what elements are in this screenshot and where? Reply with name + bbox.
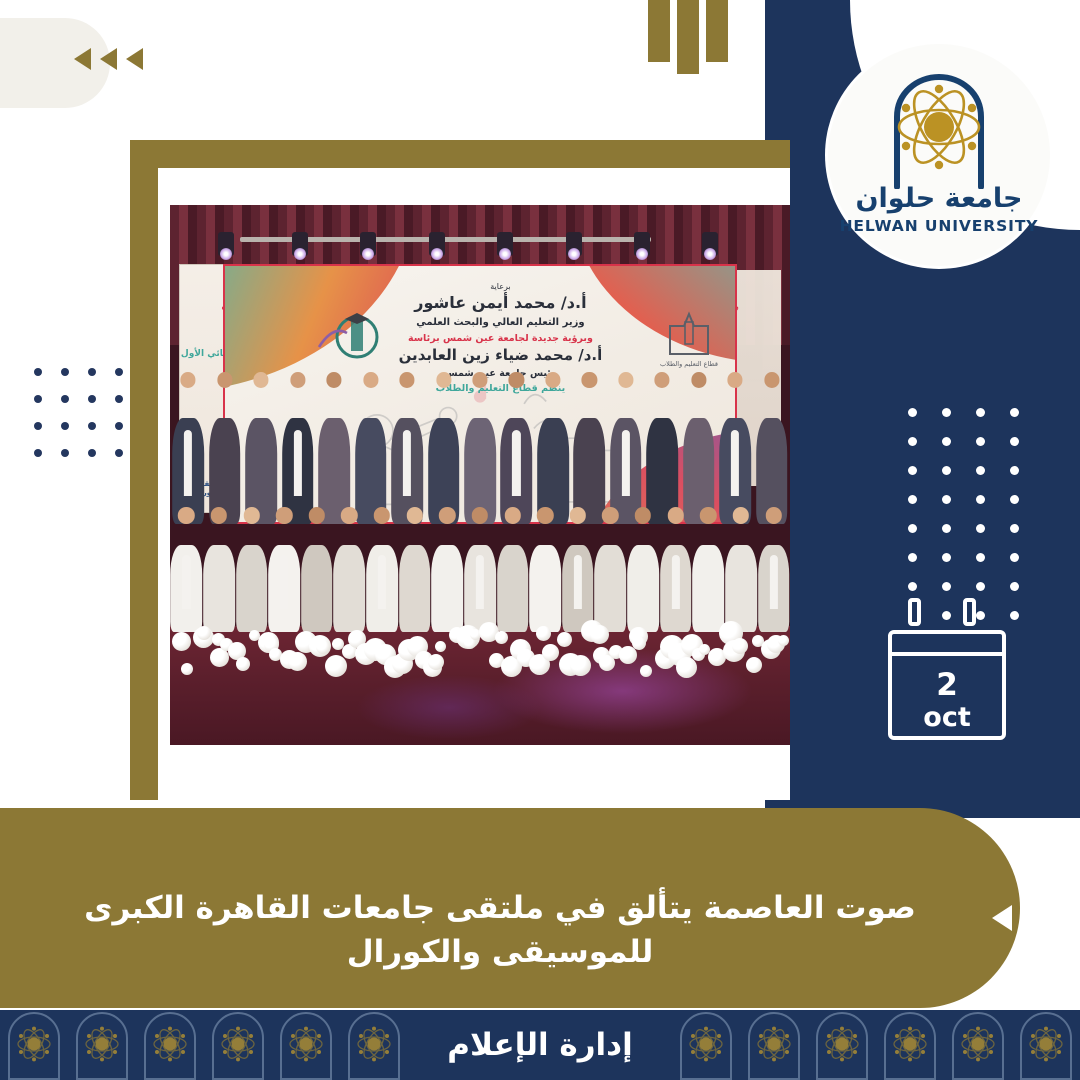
- attendee-shirt: [512, 430, 520, 497]
- footer-pattern-left: [0, 1010, 408, 1080]
- date-badge: 2 oct: [888, 612, 1006, 740]
- dot: [115, 449, 123, 457]
- attendee: [428, 372, 460, 523]
- stage-light-icon: [702, 232, 718, 256]
- attendee-head: [545, 372, 560, 387]
- dot: [61, 449, 69, 457]
- flower: [495, 631, 508, 644]
- attendee-shirt: [769, 555, 777, 610]
- atom-icon: [286, 1024, 326, 1064]
- dot: [1010, 611, 1019, 620]
- atom-icon: [82, 1024, 122, 1064]
- dot: [976, 495, 985, 504]
- attendee-head: [700, 507, 716, 523]
- backdrop-line-1: برعاية: [368, 282, 634, 292]
- dot: [976, 524, 985, 533]
- dot: [34, 368, 42, 376]
- triangle-left-icon: [74, 48, 91, 70]
- dot: [908, 466, 917, 475]
- attendee-head: [254, 372, 269, 387]
- flower: [570, 655, 591, 676]
- attendee-head: [363, 372, 378, 387]
- dot: [976, 408, 985, 417]
- attendee-head: [406, 507, 422, 523]
- attendee-shirt: [378, 555, 386, 610]
- footer-pattern-unit: [672, 1010, 740, 1080]
- calendar-text: 2 oct: [892, 668, 1002, 733]
- attendee-head: [436, 372, 451, 387]
- sector-logo-icon: [658, 310, 720, 358]
- triangle-left-icon: [126, 48, 143, 70]
- stage-light-icon: [292, 232, 308, 256]
- backdrop-logo-right: قطاع التعليم والطلاب: [658, 310, 720, 374]
- dot: [976, 437, 985, 446]
- calendar-icon: 2 oct: [888, 630, 1006, 740]
- university-logo: جامعة حلوان HELWAN UNIVERSITY: [828, 44, 1050, 266]
- attendee-head: [691, 372, 706, 387]
- attendee-row-back: [170, 372, 790, 523]
- flower: [325, 655, 347, 677]
- atom-icon: [1026, 1024, 1066, 1064]
- footer-pattern-unit: [808, 1010, 876, 1080]
- attendee-head: [439, 507, 455, 523]
- dot: [908, 408, 917, 417]
- backdrop-line-2: أ.د/ محمد أيمن عاشور: [368, 293, 634, 314]
- dot: [942, 408, 951, 417]
- footer-pattern-unit: [204, 1010, 272, 1080]
- atom-icon: [150, 1024, 190, 1064]
- flower: [640, 665, 652, 677]
- attendee-head: [341, 507, 357, 523]
- flower: [172, 632, 191, 651]
- stage-light-icon: [429, 232, 445, 256]
- gold-bar: [706, 0, 728, 62]
- photo-card: ♫ الملتقى الغنائي الأول لتحالف جامعات ال…: [130, 140, 790, 800]
- atom-icon: [14, 1024, 54, 1064]
- backdrop-right-logo-caption: قطاع التعليم والطلاب: [658, 360, 720, 368]
- attendee-head: [472, 507, 488, 523]
- attendee-head: [635, 507, 651, 523]
- attendee-shirt: [184, 430, 192, 497]
- dot: [1010, 524, 1019, 533]
- flower: [536, 626, 551, 641]
- attendee-head: [374, 507, 390, 523]
- footer-text: إدارة الإعلام: [447, 1027, 632, 1063]
- attendee: [172, 372, 204, 523]
- stage-light-icon: [634, 232, 650, 256]
- footer-pattern-right: [672, 1010, 1080, 1080]
- flower: [435, 641, 446, 652]
- attendee-head: [765, 507, 781, 523]
- footer-pattern-unit: [340, 1010, 408, 1080]
- dot: [1010, 553, 1019, 562]
- attendee-shirt: [731, 430, 739, 497]
- photo-frame: ♫ الملتقى الغنائي الأول لتحالف جامعات ال…: [170, 205, 790, 745]
- flower: [236, 657, 250, 671]
- atom-icon: [218, 1024, 258, 1064]
- atom-icon: [822, 1024, 862, 1064]
- dot: [34, 395, 42, 403]
- attendee-shirt: [574, 555, 582, 610]
- triangle-left-icon: [992, 905, 1012, 931]
- triangle-left-icon: [1020, 905, 1040, 931]
- attendee: [318, 372, 350, 523]
- attendee: [537, 372, 569, 523]
- attendee: [209, 372, 241, 523]
- gold-bar-group: [648, 0, 728, 74]
- calendar-day: 2: [892, 668, 1002, 703]
- backdrop-line-4: وبرؤية جديدة لجامعة عين شمس برئاسة: [368, 333, 634, 345]
- dot: [1010, 408, 1019, 417]
- atom-icon: [890, 1024, 930, 1064]
- attendee-head: [602, 507, 618, 523]
- attendee: [501, 372, 533, 523]
- dot: [88, 368, 96, 376]
- calendar-month: oct: [892, 703, 1002, 733]
- flower: [632, 636, 646, 650]
- dot: [61, 395, 69, 403]
- flower: [557, 632, 572, 647]
- attendee-head: [290, 372, 305, 387]
- event-photo: ♫ الملتقى الغنائي الأول لتحالف جامعات ال…: [170, 205, 790, 745]
- attendee-shirt: [280, 555, 288, 610]
- attendee: [574, 372, 606, 523]
- headline-text: صوت العاصمة يتألق في ملتقى جامعات القاهر…: [60, 886, 940, 974]
- dot: [1010, 495, 1019, 504]
- footer-pattern-unit: [1012, 1010, 1080, 1080]
- attendee-head: [764, 372, 779, 387]
- stage-light-icon: [566, 232, 582, 256]
- footer-pattern-unit: [944, 1010, 1012, 1080]
- attendee-head: [211, 507, 227, 523]
- attendee-head: [243, 507, 259, 523]
- dot: [61, 422, 69, 430]
- gold-bar: [648, 0, 670, 62]
- flower: [542, 644, 559, 661]
- attendee: [282, 372, 314, 523]
- stage-light-icon: [360, 232, 376, 256]
- calendar-header: [892, 634, 1002, 656]
- dot: [976, 582, 985, 591]
- band-arrow-group: [992, 905, 1068, 931]
- attendee-head: [509, 372, 524, 387]
- stage-light-icon: [218, 232, 234, 256]
- backdrop-line-3: وزير التعليم العالي والبحث العلمي: [368, 316, 634, 329]
- attendee-head: [667, 507, 683, 523]
- dot: [942, 524, 951, 533]
- attendee: [355, 372, 387, 523]
- dot: [115, 395, 123, 403]
- dot-grid-left: [34, 368, 123, 457]
- attendee-shirt: [294, 430, 302, 497]
- flower: [590, 625, 609, 644]
- group-of-attendees: [170, 378, 790, 648]
- dot: [942, 437, 951, 446]
- attendee-head: [178, 507, 194, 523]
- dot: [976, 553, 985, 562]
- attendee: [719, 372, 751, 523]
- attendee: [683, 372, 715, 523]
- attendee: [647, 372, 679, 523]
- flower: [778, 635, 789, 646]
- attendee: [756, 372, 788, 523]
- calendar-ring-icon: [908, 598, 921, 626]
- footer-pattern-unit: [272, 1010, 340, 1080]
- dot: [908, 553, 917, 562]
- footer-bar: إدارة الإعلام: [0, 1010, 1080, 1080]
- attendee-head: [504, 507, 520, 523]
- attendee-head: [276, 507, 292, 523]
- dot: [34, 422, 42, 430]
- dot: [88, 449, 96, 457]
- gold-bar: [677, 0, 699, 74]
- atom-icon: [754, 1024, 794, 1064]
- attendee-head: [582, 372, 597, 387]
- lighting-truss: [195, 232, 765, 244]
- flower: [428, 654, 444, 670]
- attendee-head: [217, 372, 232, 387]
- dot: [115, 368, 123, 376]
- dot: [1010, 582, 1019, 591]
- flower-arrangement: [170, 610, 790, 680]
- footer-pattern-unit: [0, 1010, 68, 1080]
- attendee-head: [399, 372, 414, 387]
- flower: [746, 657, 762, 673]
- atom-icon: [686, 1024, 726, 1064]
- attendee-head: [733, 507, 749, 523]
- atom-icon: [958, 1024, 998, 1064]
- atom-arch-icon: [873, 71, 1005, 189]
- footer-pattern-unit: [740, 1010, 808, 1080]
- dot: [908, 524, 917, 533]
- dot: [1010, 466, 1019, 475]
- attendee: [245, 372, 277, 523]
- dot-grid-right: [908, 408, 1019, 620]
- attendee: [464, 372, 496, 523]
- poster-canvas: جامعة حلوان HELWAN UNIVERSITY 2 oct: [0, 0, 1080, 1080]
- attendee-head: [472, 372, 487, 387]
- flower: [732, 638, 748, 654]
- dot: [34, 449, 42, 457]
- attendee-shirt: [403, 430, 411, 497]
- attendee-shirt: [672, 555, 680, 610]
- dot: [942, 582, 951, 591]
- attendee-shirt: [622, 430, 630, 497]
- backdrop-line-5: أ.د/ محمد ضياء زين العابدين: [368, 346, 634, 366]
- attendee-head: [537, 507, 553, 523]
- attendee-head: [655, 372, 670, 387]
- dot: [88, 422, 96, 430]
- triangle-left-icon: [1048, 905, 1068, 931]
- attendee-head: [570, 507, 586, 523]
- footer-pattern-unit: [136, 1010, 204, 1080]
- dot: [908, 495, 917, 504]
- dot: [942, 553, 951, 562]
- attendee-head: [181, 372, 196, 387]
- calendar-ring-icon: [963, 598, 976, 626]
- dot: [115, 422, 123, 430]
- footer-pattern-unit: [68, 1010, 136, 1080]
- flower: [288, 652, 307, 671]
- attendee-shirt: [476, 555, 484, 610]
- dot: [908, 437, 917, 446]
- flower: [181, 663, 193, 675]
- dot: [942, 495, 951, 504]
- attendee-head: [618, 372, 633, 387]
- footer-pattern-unit: [876, 1010, 944, 1080]
- dot: [976, 466, 985, 475]
- attendee-head: [327, 372, 342, 387]
- attendee-head: [728, 372, 743, 387]
- dot: [61, 368, 69, 376]
- dot: [942, 466, 951, 475]
- logo-arabic-text: جامعة حلوان: [855, 185, 1022, 212]
- triangle-left-icon: [100, 48, 117, 70]
- attendee-shirt: [182, 555, 190, 610]
- dot: [908, 582, 917, 591]
- logo-english-text: HELWAN UNIVERSITY: [840, 217, 1039, 235]
- dot: [1010, 437, 1019, 446]
- top-arrow-group: [74, 48, 143, 70]
- stage-light-glow: [356, 675, 542, 740]
- attendee: [391, 372, 423, 523]
- flower: [676, 657, 697, 678]
- atom-icon: [354, 1024, 394, 1064]
- attendee-head: [309, 507, 325, 523]
- attendee: [610, 372, 642, 523]
- flower: [197, 626, 211, 640]
- dot: [88, 395, 96, 403]
- stage-light-icon: [497, 232, 513, 256]
